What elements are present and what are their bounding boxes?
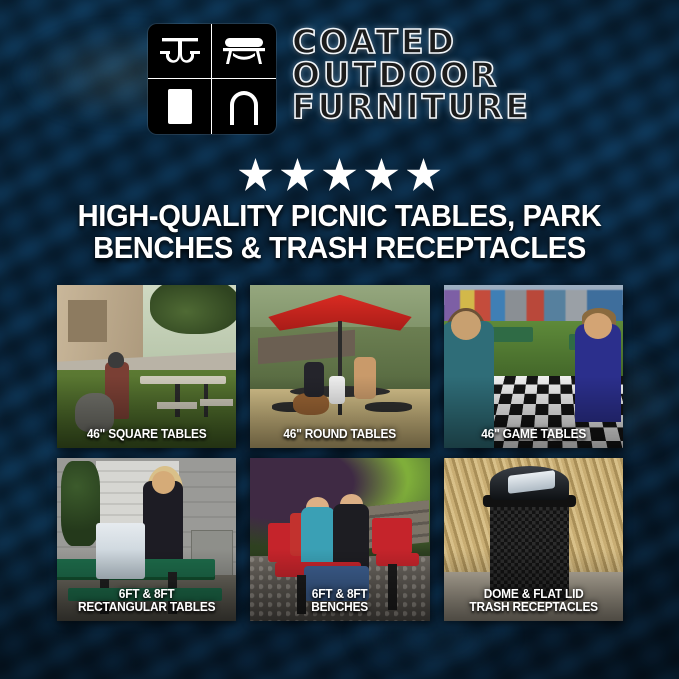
product-tile-trash-receptacles[interactable]: DOME & FLAT LID TRASH RECEPTACLES [444,458,623,621]
star-icon [365,158,399,191]
headline-line-2: BENCHES & TRASH RECEPTACLES [20,232,658,264]
star-icon [239,158,273,191]
product-photo-round-tables [250,285,429,448]
product-caption: 46" ROUND TABLES [255,428,425,441]
caption-line-2: RECTANGULAR TABLES [61,601,231,614]
product-photo-game-tables [444,285,623,448]
picnic-table-icon [148,24,212,79]
bench-icon [212,24,276,79]
caption-line-1: 46" SQUARE TABLES [61,428,231,441]
star-icon [323,158,357,191]
caption-line-2: BENCHES [255,601,425,614]
product-caption: 6FT & 8FT RECTANGULAR TABLES [61,588,231,615]
product-tile-square-tables[interactable]: 46" SQUARE TABLES [57,285,236,448]
product-tile-game-tables[interactable]: 46" GAME TABLES [444,285,623,448]
product-grid: 46" SQUARE TABLES 46" ROUND TABLES [57,285,623,621]
arch-bike-rack-icon [212,79,276,134]
star-icon [407,158,441,191]
brand-wordmark: COATED OUTDOOR FURNITURE [292,24,531,124]
caption-line-1: 46" GAME TABLES [448,428,618,441]
product-photo-square-tables [57,285,236,448]
brand-logo-mark [148,24,276,134]
headline-line-1: HIGH-QUALITY PICNIC TABLES, PARK [20,200,658,232]
headline: HIGH-QUALITY PICNIC TABLES, PARK BENCHES… [20,200,658,263]
product-caption: 46" GAME TABLES [448,428,618,441]
product-caption: 6FT & 8FT BENCHES [255,588,425,615]
star-icon [281,158,315,191]
advertisement-banner: COATED OUTDOOR FURNITURE HIGH-QUALITY PI… [0,0,679,679]
caption-line-1: 46" ROUND TABLES [255,428,425,441]
product-tile-benches[interactable]: 6FT & 8FT BENCHES [250,458,429,621]
brand-line-1: COATED [292,26,531,59]
product-caption: DOME & FLAT LID TRASH RECEPTACLES [448,588,618,615]
caption-line-2: TRASH RECEPTACLES [448,601,618,614]
rating-stars [0,158,679,191]
trash-receptacle-icon [148,79,212,134]
brand-header: COATED OUTDOOR FURNITURE [0,24,679,134]
product-tile-round-tables[interactable]: 46" ROUND TABLES [250,285,429,448]
product-tile-rectangular-tables[interactable]: 6FT & 8FT RECTANGULAR TABLES [57,458,236,621]
product-caption: 46" SQUARE TABLES [61,428,231,441]
brand-line-3: FURNITURE [292,91,531,124]
